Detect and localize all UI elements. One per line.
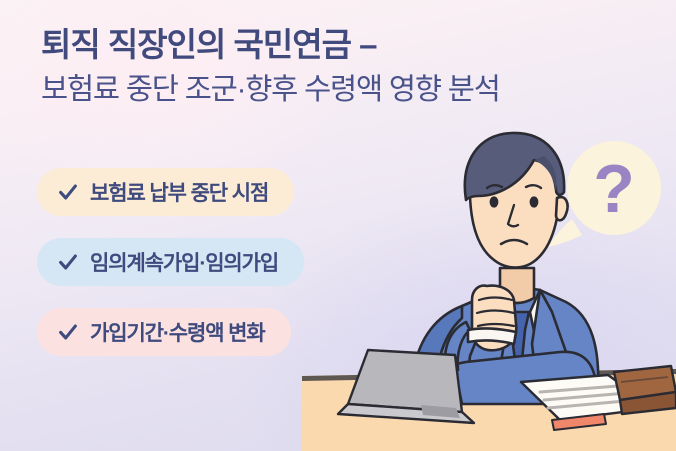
title-line-1: 퇴직 직장인의 국민연금 – (41, 25, 641, 65)
thumbnail-card: ? (0, 0, 676, 451)
businessman-figure (406, 133, 599, 404)
page-title: 퇴직 직장인의 국민연금 – 보험료 중단 조군·향후 수령액 영향 분석 (41, 25, 641, 110)
bullet-list: 보험료 납부 중단 시점 임의계속가입·임의가입 가입기간·수령액 변화 (37, 168, 304, 378)
book (614, 366, 676, 414)
document (521, 375, 654, 430)
thought-bubble: ? (548, 141, 661, 247)
bullet-pill-1[interactable]: 보험료 납부 중단 시점 (37, 168, 294, 216)
question-mark-icon: ? (593, 151, 635, 227)
check-icon (57, 321, 79, 343)
title-line-2: 보험료 중단 조군·향후 수령액 영향 분석 (41, 71, 641, 109)
bullet-label-2: 임의계속가입·임의가입 (90, 247, 278, 277)
desk (302, 369, 676, 451)
check-icon (57, 251, 79, 273)
laptop (338, 350, 474, 423)
bullet-pill-2[interactable]: 임의계속가입·임의가입 (37, 238, 304, 286)
check-icon (57, 181, 79, 203)
bullet-pill-3[interactable]: 가입기간·수령액 변화 (37, 308, 291, 356)
bullet-label-3: 가입기간·수령액 변화 (90, 317, 265, 347)
bullet-label-1: 보험료 납부 중단 시점 (90, 177, 268, 207)
